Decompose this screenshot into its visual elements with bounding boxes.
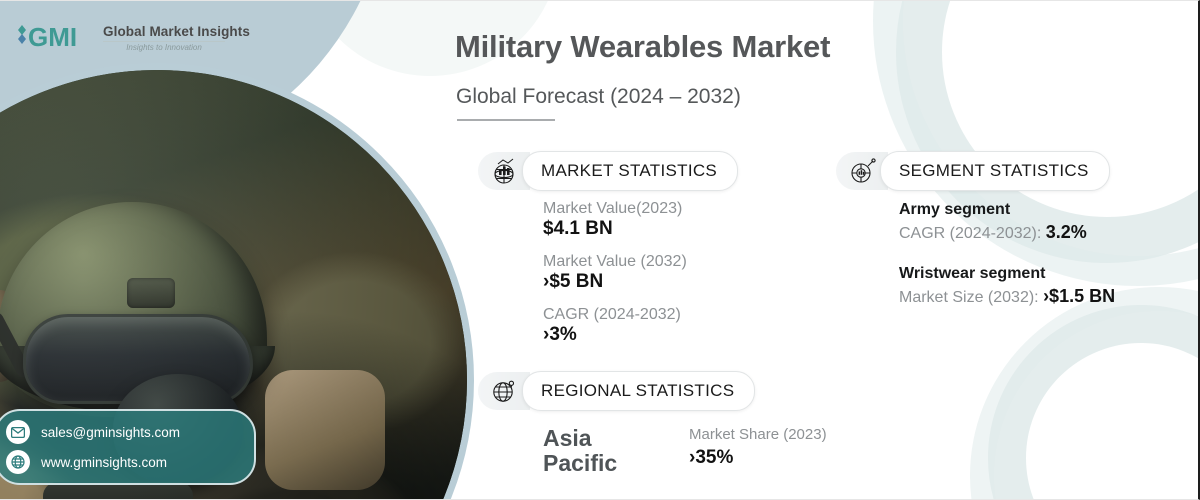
decorative-ring-bottom-right-outer <box>970 287 1200 500</box>
market-stat-row: Market Value(2023) $4.1 BN <box>543 200 687 240</box>
regional-statistics-label: REGIONAL STATISTICS <box>541 381 734 401</box>
brand-tagline: Insights to Innovation <box>103 44 225 52</box>
page-subtitle: Global Forecast (2024 – 2032) <box>456 85 741 109</box>
segment-group: Army segment CAGR (2024-2032): 3.2% <box>899 201 1115 243</box>
contact-email[interactable]: sales@gminsights.com <box>41 425 180 440</box>
regional-statistics-pill[interactable]: REGIONAL STATISTICS <box>522 371 755 411</box>
market-stat-value: $4.1 BN <box>543 218 687 240</box>
gmi-logo-mark-icon: GMI <box>14 21 96 56</box>
market-stat-label: Market Value (2032) <box>543 253 687 271</box>
svg-text:GMI: GMI <box>28 22 77 51</box>
region-stat-value: ›35% <box>689 447 827 469</box>
market-stat-value: ›3% <box>543 324 687 346</box>
decorative-ring-bottom-right-inner <box>988 305 1200 500</box>
segment-metric: Market Size (2032): ›$1.5 BN <box>899 286 1115 307</box>
segment-metric-label: CAGR (2024-2032): <box>899 225 1046 242</box>
contact-website[interactable]: www.gminsights.com <box>41 455 167 470</box>
regional-statistics-badge[interactable]: REGIONAL STATISTICS <box>478 372 755 410</box>
brand-name: Global Market Insights <box>103 25 250 39</box>
segment-statistics-badge[interactable]: SEGMENT STATISTICS <box>836 152 1110 190</box>
page-title: Military Wearables Market <box>455 29 830 65</box>
region-metric: Market Share (2023) ›35% <box>689 426 827 469</box>
region-name: Asia Pacific <box>543 426 647 476</box>
segment-group: Wristwear segment Market Size (2032): ›$… <box>899 265 1115 307</box>
segment-metric-label: Market Size (2032): <box>899 289 1043 306</box>
market-stat-row: CAGR (2024-2032) ›3% <box>543 306 687 346</box>
brand-divider <box>103 41 225 42</box>
title-underline <box>457 119 555 121</box>
envelope-icon <box>6 420 30 444</box>
market-stat-label: Market Value(2023) <box>543 200 687 218</box>
brand-logo[interactable]: GMI Global Market Insights Insights to I… <box>14 21 250 56</box>
contact-website-row[interactable]: www.gminsights.com <box>6 450 242 474</box>
segment-statistics-pill[interactable]: SEGMENT STATISTICS <box>880 151 1110 191</box>
contact-panel: sales@gminsights.com www.gminsights.com <box>0 409 256 485</box>
globe-icon <box>6 450 30 474</box>
segment-statistics-list: Army segment CAGR (2024-2032): 3.2% Wris… <box>899 201 1115 307</box>
contact-email-row[interactable]: sales@gminsights.com <box>6 420 242 444</box>
segment-heading: Army segment <box>899 201 1115 219</box>
segment-metric: CAGR (2024-2032): 3.2% <box>899 222 1115 243</box>
market-statistics-pill[interactable]: MARKET STATISTICS <box>522 151 738 191</box>
market-statistics-list: Market Value(2023) $4.1 BN Market Value … <box>543 200 687 346</box>
segment-heading: Wristwear segment <box>899 265 1115 283</box>
segment-metric-value: 3.2% <box>1046 222 1087 242</box>
market-statistics-label: MARKET STATISTICS <box>541 161 717 181</box>
market-stat-row: Market Value (2032) ›$5 BN <box>543 253 687 293</box>
region-stat-label: Market Share (2023) <box>689 426 827 443</box>
market-statistics-badge[interactable]: MARKET STATISTICS <box>478 152 738 190</box>
market-stat-value: ›$5 BN <box>543 271 687 293</box>
market-stat-label: CAGR (2024-2032) <box>543 306 687 324</box>
infographic-canvas: GMI Global Market Insights Insights to I… <box>0 0 1200 500</box>
segment-metric-value: ›$1.5 BN <box>1043 286 1115 306</box>
regional-statistics-content: Asia Pacific Market Share (2023) ›35% <box>543 426 827 476</box>
segment-statistics-label: SEGMENT STATISTICS <box>899 161 1089 181</box>
